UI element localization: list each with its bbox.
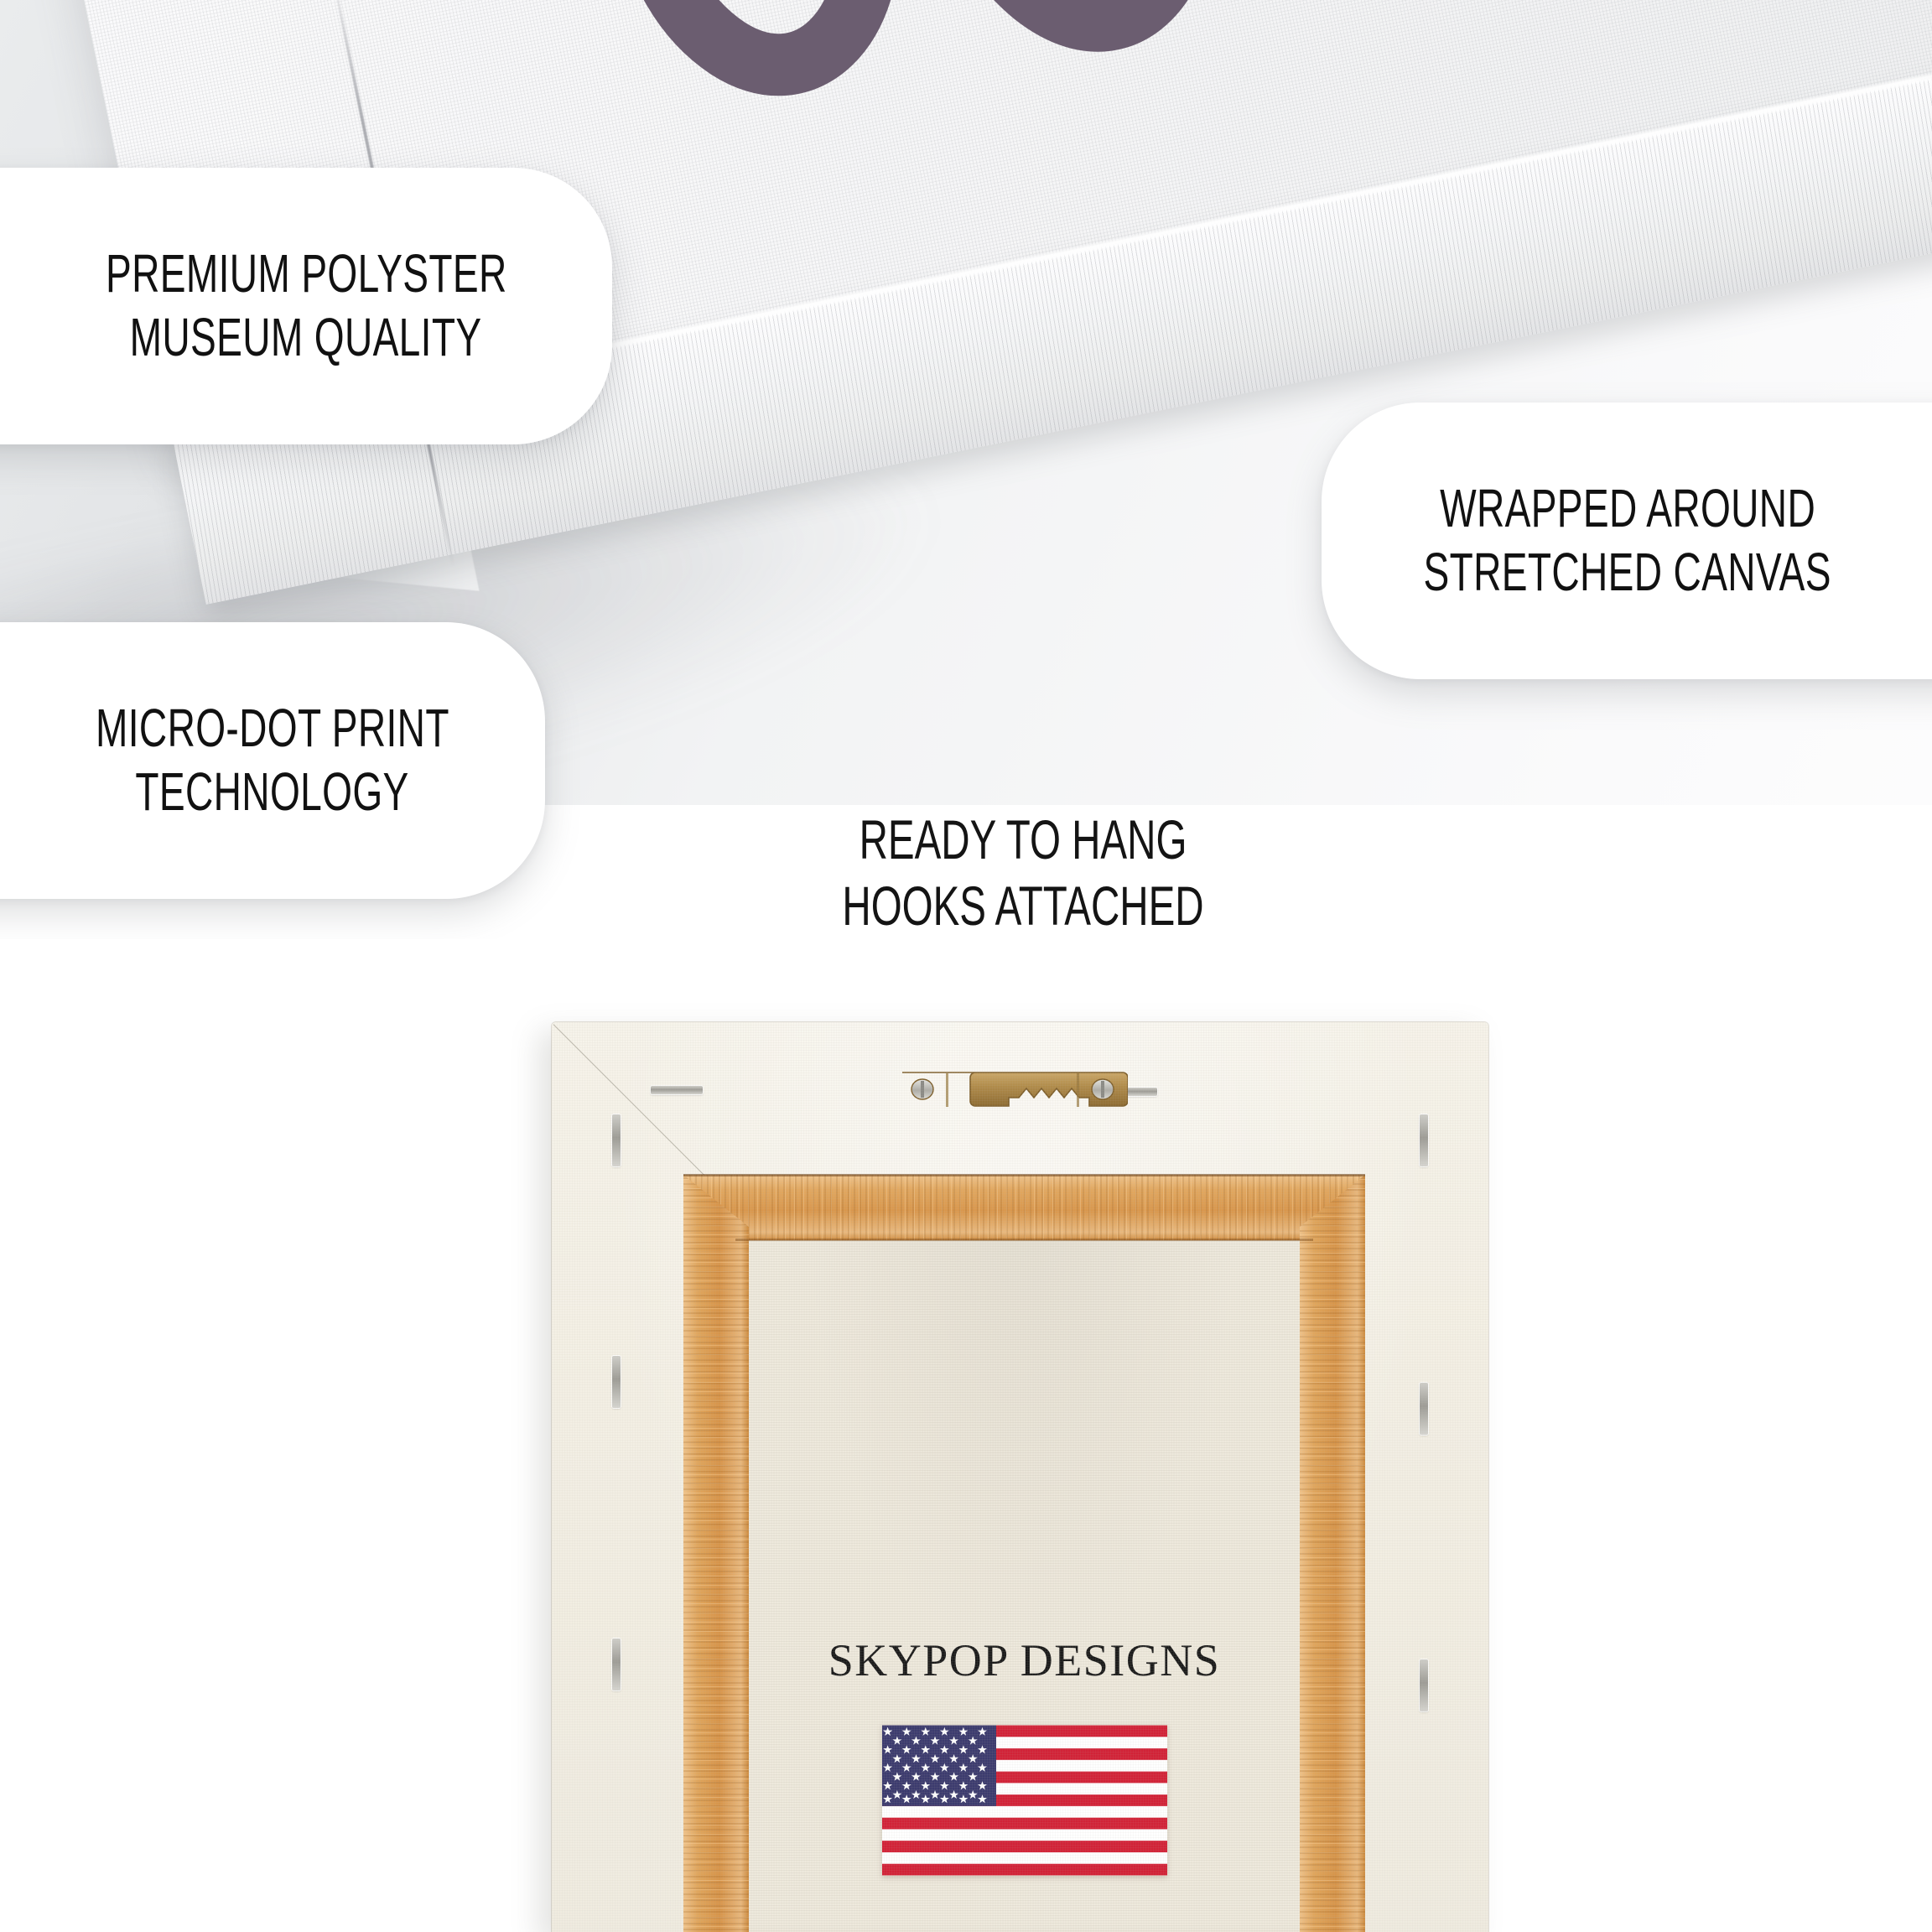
stretcher-bar-top [683, 1175, 1365, 1240]
stretcher-seam-top [683, 1174, 1365, 1176]
stretcher-seam-inner [735, 1239, 1313, 1241]
feature-line-2: MUSEUM QUALITY [130, 306, 482, 370]
feature-line-2: STRETCHED CANVAS [1424, 541, 1831, 605]
staple [612, 1114, 621, 1166]
feature-line-1: PREMIUM POLYSTER [106, 242, 507, 306]
feature-line-1: WRAPPED AROUND [1440, 477, 1815, 541]
united-states-flag-icon [882, 1725, 1167, 1876]
feature-line-2: TECHNOLOGY [136, 761, 409, 824]
feature-badge-micro-dot-print: MICRO-DOT PRINT TECHNOLOGY [0, 622, 545, 899]
feature-badge-premium-polyster: PREMIUM POLYSTER MUSEUM QUALITY [0, 168, 612, 444]
canvas-back-panel: SKYPOP DESIGNS [552, 1022, 1488, 1932]
staple [612, 1639, 621, 1690]
staple [1420, 1114, 1428, 1166]
staple [1420, 1659, 1428, 1711]
sawtooth-hanger-icon [897, 1066, 1128, 1118]
feature-badge-wrapped-around: WRAPPED AROUND STRETCHED CANVAS [1322, 402, 1932, 679]
feature-line-2: HOOKS ATTACHED [763, 873, 1282, 939]
brand-label: SKYPOP DESIGNS [683, 1634, 1365, 1686]
feature-line-1: MICRO-DOT PRINT [96, 697, 449, 761]
infographic-canvas: PREMIUM POLYSTER MUSEUM QUALITY WRAPPED … [0, 0, 1932, 1932]
stretcher-bar-left [683, 1175, 749, 1932]
staple [1420, 1383, 1428, 1435]
canvas-back-photo: SKYPOP DESIGNS [0, 939, 1932, 1932]
feature-line-1: READY TO HANG [763, 807, 1282, 873]
feature-caption-ready-to-hang: READY TO HANG HOOKS ATTACHED [662, 807, 1384, 939]
staple [612, 1356, 621, 1408]
stretcher-bar-right [1300, 1175, 1365, 1932]
staple [651, 1086, 703, 1094]
